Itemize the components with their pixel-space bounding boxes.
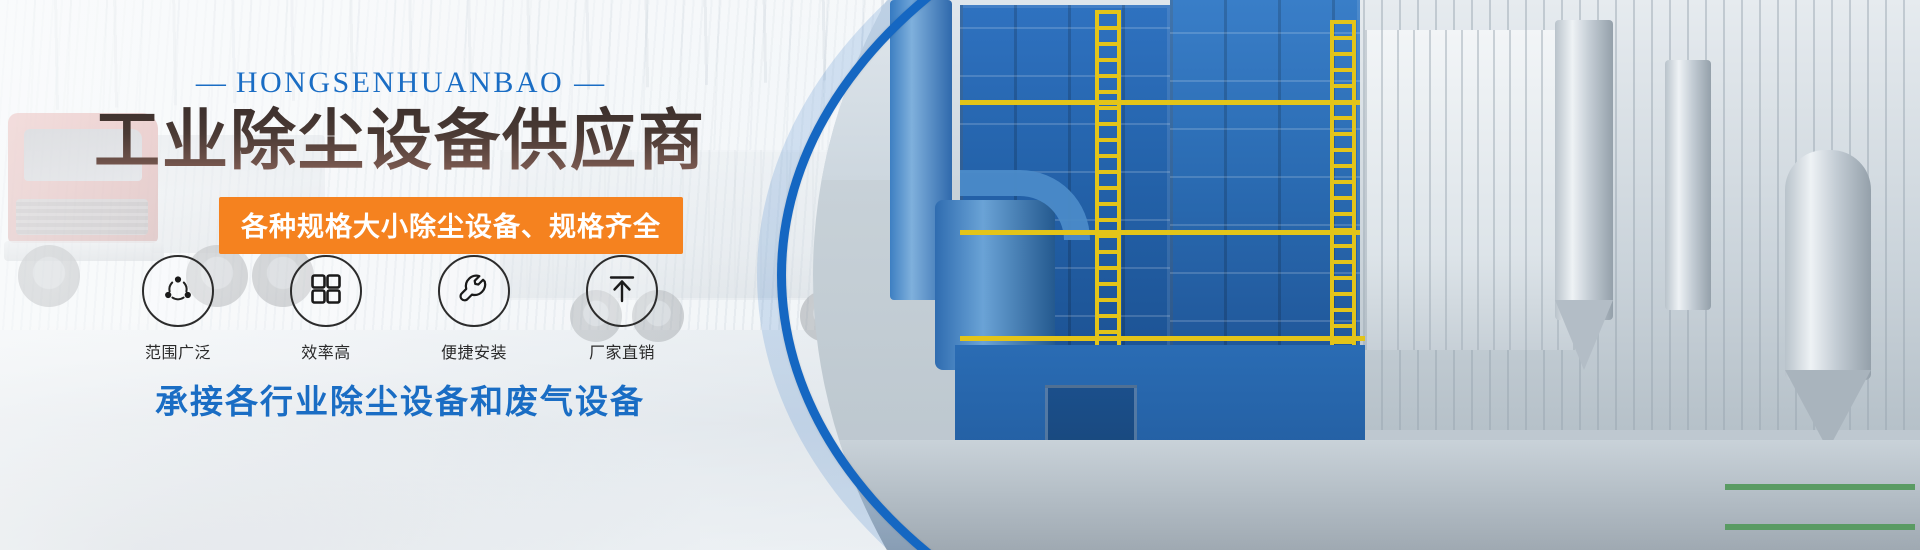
footer-tagline: 承接各行业除尘设备和废气设备: [0, 375, 800, 423]
cyclone-cone: [1785, 370, 1871, 450]
wrench-icon: [454, 269, 494, 314]
white-shed-ribs: [1365, 30, 1575, 350]
subtitle-banner: 各种规格大小除尘设备、规格齐全: [219, 197, 683, 254]
feature-list: 范围广泛 效率高: [0, 255, 800, 363]
feature-label: 效率高: [286, 339, 366, 363]
share-network-icon: [158, 269, 198, 314]
page-title: 工业除尘设备供应商: [0, 104, 800, 178]
feature-label: 厂家直销: [582, 339, 662, 363]
steel-duct: [1665, 60, 1711, 310]
yellow-railing: [960, 230, 1360, 235]
eyebrow-tagline: —HONGSENHUANBAO—: [0, 66, 800, 100]
upload-arrow-icon: [603, 270, 641, 313]
feature-icon-ring: [586, 255, 658, 327]
eyebrow-dash-left: —: [186, 66, 236, 99]
feature-item-high-efficiency[interactable]: 效率高: [286, 255, 366, 363]
yellow-railing: [960, 100, 1360, 105]
steel-silo: [1555, 20, 1613, 320]
green-railing: [1725, 524, 1915, 530]
eyebrow-text: HONGSENHUANBAO: [236, 66, 564, 99]
grid-four-squares-icon: [308, 271, 344, 312]
subtitle-banner-text: 各种规格大小除尘设备、规格齐全: [241, 212, 661, 243]
feature-icon-ring: [290, 255, 362, 327]
factory-floor: [785, 440, 1920, 550]
feature-item-wide-range[interactable]: 范围广泛: [138, 255, 218, 363]
feature-label: 范围广泛: [138, 339, 218, 363]
silo-cone: [1555, 300, 1613, 370]
eyebrow-dash-right: —: [564, 66, 614, 99]
feature-label: 便捷安装: [434, 339, 514, 363]
hero-banner: —HONGSENHUANBAO— 工业除尘设备供应商 各种规格大小除尘设备、规格…: [0, 0, 1920, 550]
background-right-photo: [785, 0, 1920, 550]
feature-icon-ring: [142, 255, 214, 327]
hero-content: —HONGSENHUANBAO— 工业除尘设备供应商 各种规格大小除尘设备、规格…: [0, 0, 820, 550]
yellow-railing: [960, 336, 1365, 341]
green-railing: [1725, 484, 1915, 490]
feature-item-easy-install[interactable]: 便捷安装: [434, 255, 514, 363]
feature-item-factory-direct[interactable]: 厂家直销: [582, 255, 662, 363]
feature-icon-ring: [438, 255, 510, 327]
steel-cyclone: [1785, 150, 1871, 380]
